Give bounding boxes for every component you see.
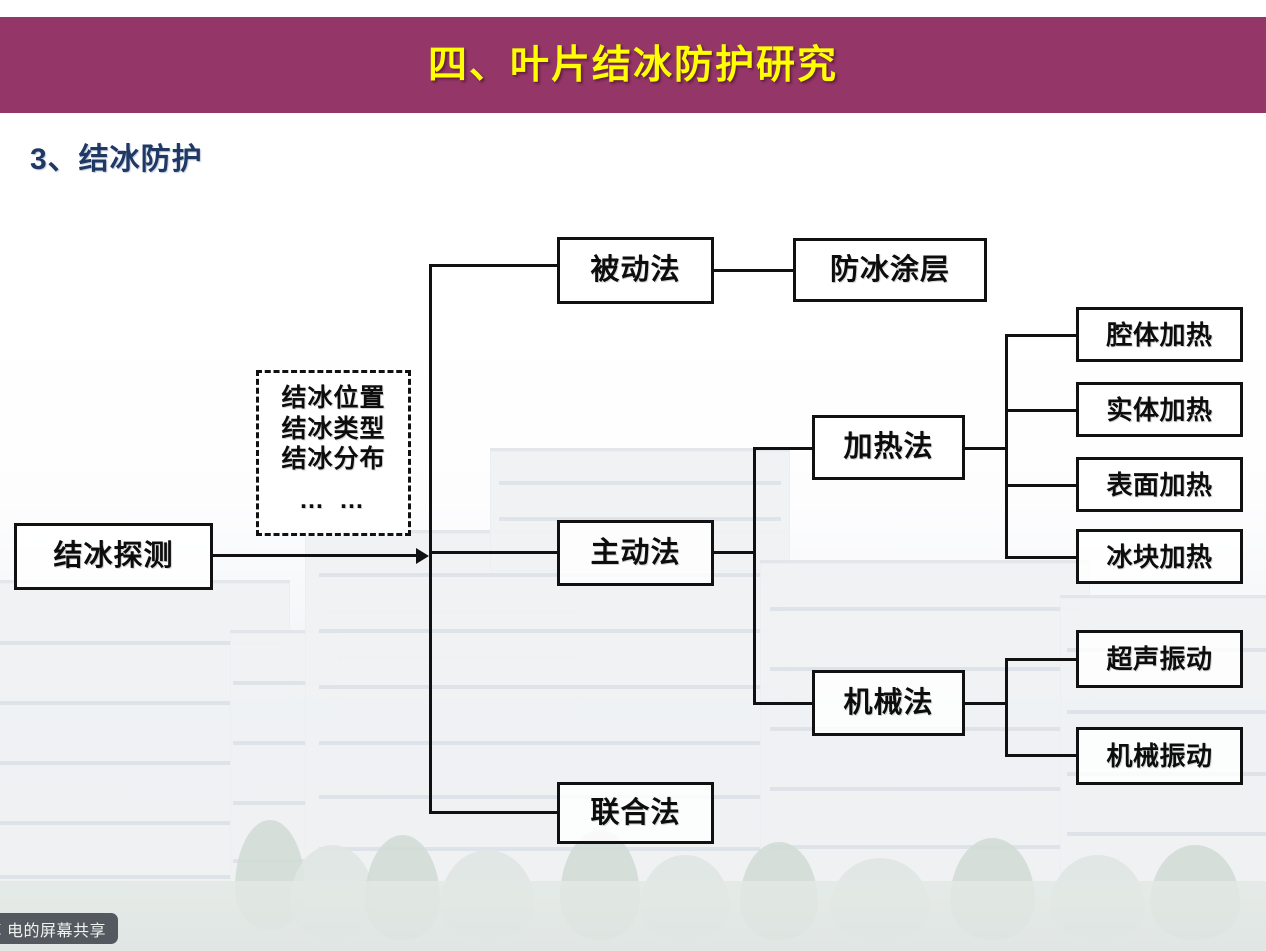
node-detection-attributes: 结冰位置 结冰类型 结冰分布 … … bbox=[256, 370, 411, 536]
node-heating-method[interactable]: 加热法 bbox=[812, 415, 965, 480]
attribute-ice-location: 结冰位置 bbox=[281, 383, 385, 414]
node-solid-heating[interactable]: 实体加热 bbox=[1076, 382, 1243, 437]
node-anti-ice-coating[interactable]: 防冰涂层 bbox=[793, 238, 987, 302]
node-label: 实体加热 bbox=[1106, 397, 1212, 423]
node-active-method[interactable]: 主动法 bbox=[557, 520, 714, 586]
node-label: 机械法 bbox=[843, 689, 933, 718]
slide-canvas: 四、叶片结冰防护研究 3、结冰防护 结冰探测 结冰位置 结冰类型 结冰分布 … … bbox=[0, 0, 1266, 951]
node-label: 被动法 bbox=[590, 256, 680, 285]
connector-bus-to-surface-heating bbox=[1005, 484, 1077, 487]
node-mechanical-method[interactable]: 机械法 bbox=[812, 670, 965, 736]
connector-heating-sub-bus bbox=[1005, 334, 1008, 558]
screen-share-label: 正在共享 电的屏幕共享 bbox=[0, 917, 106, 941]
screen-share-toast[interactable]: 正在共享 电的屏幕共享 bbox=[0, 913, 118, 944]
connector-active-to-bus bbox=[714, 551, 756, 554]
connector-mechanical-to-bus bbox=[965, 702, 1008, 705]
connector-active-branch-bus bbox=[753, 447, 756, 705]
node-label: 机械振动 bbox=[1106, 743, 1212, 769]
node-label: 加热法 bbox=[843, 433, 933, 462]
node-label: 表面加热 bbox=[1106, 472, 1212, 498]
connector-bus-to-solid-heating bbox=[1005, 409, 1077, 412]
connector-bus-to-heating bbox=[753, 447, 815, 450]
node-label: 联合法 bbox=[590, 799, 680, 828]
node-cavity-heating[interactable]: 腔体加热 bbox=[1076, 307, 1243, 362]
connector-trunk-to-passive bbox=[429, 264, 558, 267]
node-label: 超声振动 bbox=[1106, 646, 1212, 672]
connector-root-to-trunk bbox=[213, 554, 418, 557]
node-ice-detection[interactable]: 结冰探测 bbox=[14, 523, 213, 590]
node-mechanical-vibration[interactable]: 机械振动 bbox=[1076, 727, 1243, 785]
connector-heating-to-bus bbox=[965, 447, 1008, 450]
connector-trunk-to-active bbox=[429, 551, 558, 554]
node-label: 冰块加热 bbox=[1106, 544, 1212, 570]
connector-mechanical-sub-bus bbox=[1005, 658, 1008, 757]
node-ice-block-heating[interactable]: 冰块加热 bbox=[1076, 529, 1243, 584]
node-label: 防冰涂层 bbox=[830, 256, 950, 285]
node-label: 腔体加热 bbox=[1106, 322, 1212, 348]
node-combined-method[interactable]: 联合法 bbox=[557, 782, 714, 844]
attribute-ice-type: 结冰类型 bbox=[281, 414, 385, 445]
connector-trunk-to-combined bbox=[429, 811, 558, 814]
node-label: 结冰探测 bbox=[53, 542, 173, 571]
flowchart: 结冰探测 结冰位置 结冰类型 结冰分布 … … 被动法 主动法 联合法 bbox=[0, 0, 1266, 951]
connector-main-trunk bbox=[429, 264, 432, 813]
connector-passive-to-coating bbox=[714, 269, 794, 272]
connector-bus-to-ice-block-heating bbox=[1005, 556, 1077, 559]
arrowhead-trunk bbox=[416, 548, 429, 564]
connector-bus-to-mechanical-vibration bbox=[1005, 754, 1077, 757]
connector-bus-to-mechanical bbox=[753, 702, 815, 705]
attribute-ellipsis: … … bbox=[299, 485, 368, 516]
attribute-ice-distribution: 结冰分布 bbox=[281, 444, 385, 475]
node-label: 主动法 bbox=[590, 539, 680, 568]
node-passive-method[interactable]: 被动法 bbox=[557, 237, 714, 304]
node-surface-heating[interactable]: 表面加热 bbox=[1076, 457, 1243, 512]
node-ultrasonic-vibration[interactable]: 超声振动 bbox=[1076, 630, 1243, 688]
connector-bus-to-ultrasonic bbox=[1005, 658, 1077, 661]
connector-bus-to-cavity-heating bbox=[1005, 334, 1077, 337]
